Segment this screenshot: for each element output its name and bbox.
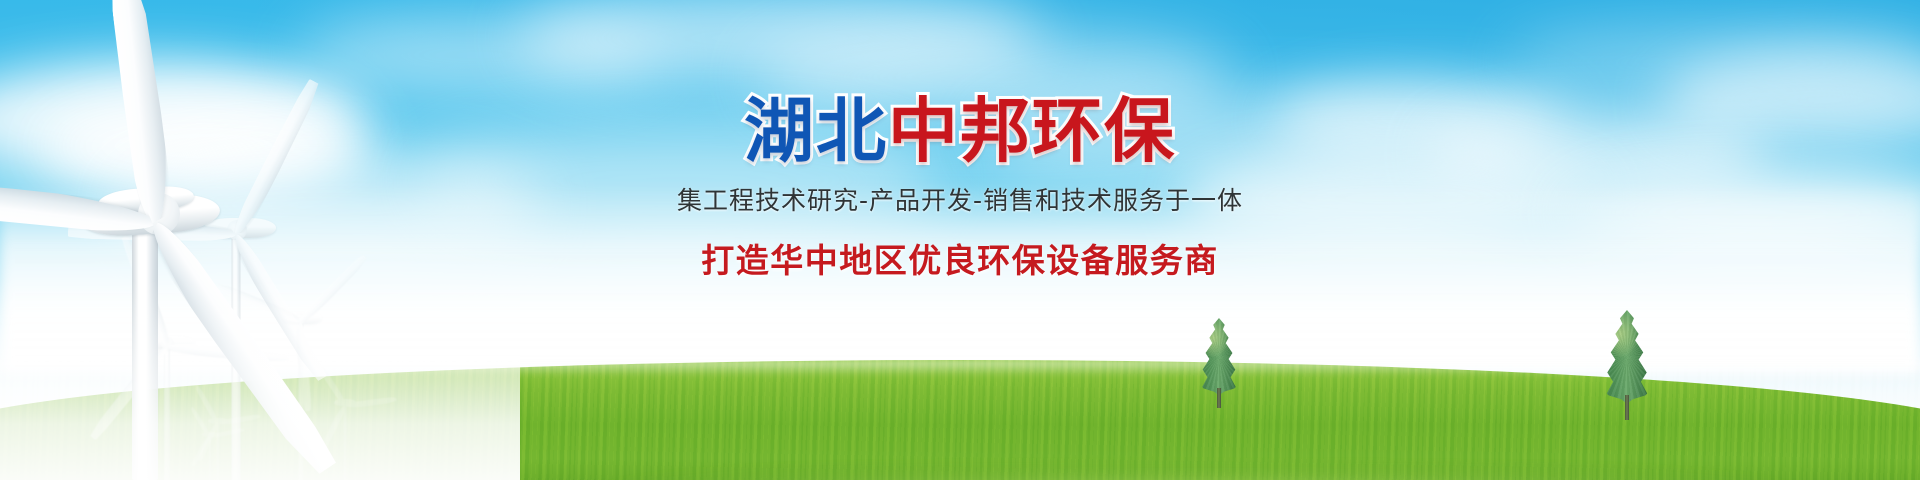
page-title: 湖北中邦环保	[0, 96, 1920, 167]
banner-subtitle: 集工程技术研究-产品开发-销售和技术服务于一体	[0, 185, 1920, 218]
tree-trunk	[1217, 388, 1221, 408]
title-brand-text: 中邦环保	[888, 90, 1176, 172]
tree-conifer-right	[1598, 310, 1656, 420]
tree-crown	[1598, 310, 1656, 402]
tree-conifer-left	[1195, 318, 1243, 408]
banner-tagline: 打造华中地区优良环保设备服务商	[0, 234, 1920, 282]
tree-crown-texture	[1195, 318, 1243, 394]
tree-crown	[1195, 318, 1243, 394]
grass-highlight	[545, 474, 1920, 480]
title-region-text: 湖北	[744, 90, 888, 172]
banner-text-block: 湖北中邦环保 集工程技术研究-产品开发-销售和技术服务于一体 打造华中地区优良环…	[0, 96, 1920, 282]
hero-banner: 湖北中邦环保 集工程技术研究-产品开发-销售和技术服务于一体 打造华中地区优良环…	[0, 0, 1920, 480]
tree-trunk	[1625, 395, 1629, 420]
tree-crown-texture	[1598, 310, 1656, 402]
